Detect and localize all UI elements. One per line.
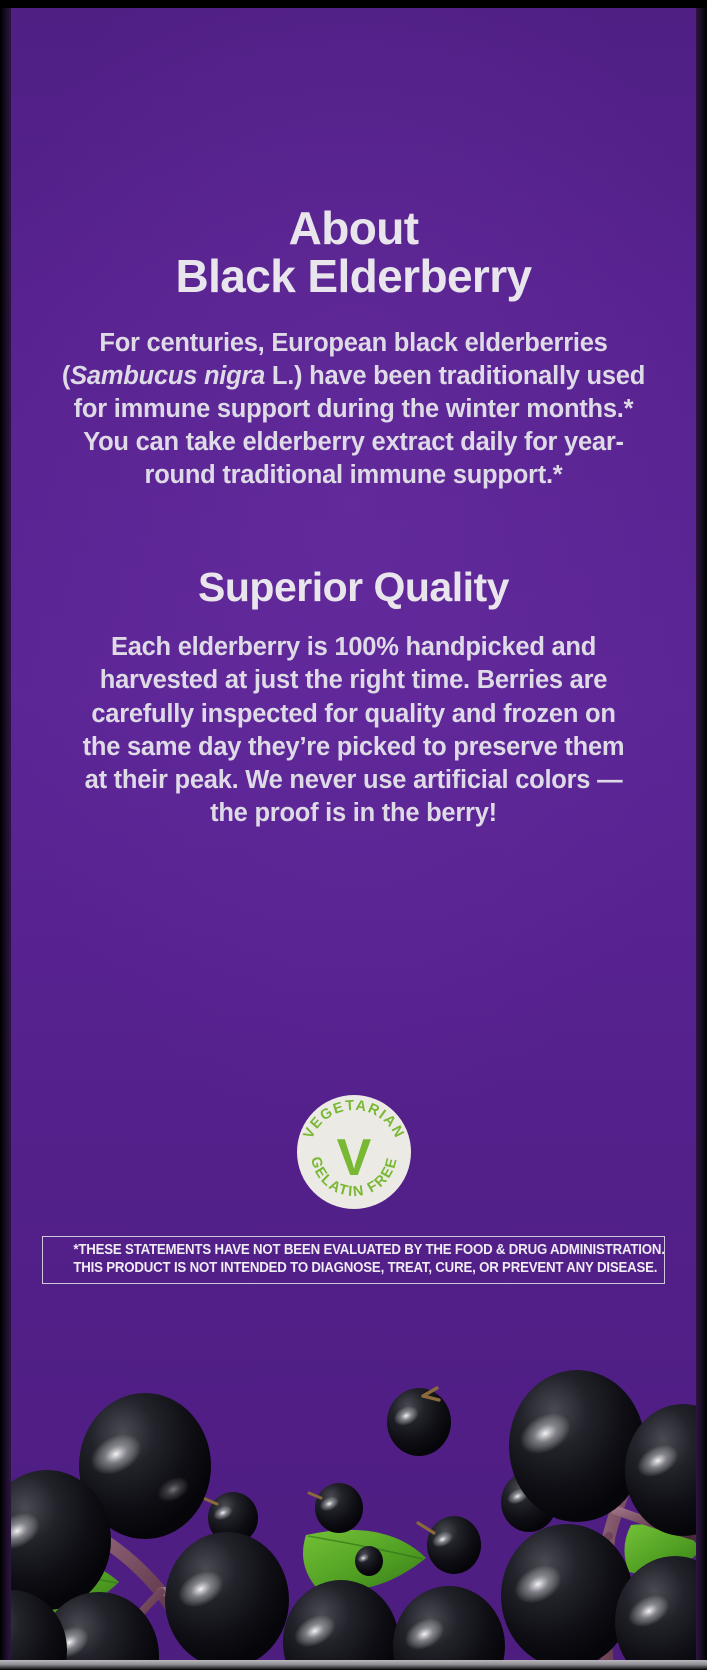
disclaimer-line-2: THIS PRODUCT IS NOT INTENDED TO DIAGNOSE… — [73, 1260, 633, 1278]
package-bottom-edge — [0, 1660, 707, 1670]
about-body-latin-name: Sambucus nigra — [70, 362, 265, 390]
fda-disclaimer-box: *THESE STATEMENTS HAVE NOT BEEN EVALUATE… — [42, 1236, 665, 1284]
package-top-edge — [0, 0, 707, 8]
package-right-edge — [696, 0, 707, 1670]
about-body-text: For centuries, European black elderberri… — [51, 327, 656, 493]
seal-center-letter: V — [336, 1129, 371, 1187]
panel-background: About Black Elderberry For centuries, Eu… — [11, 8, 696, 1660]
panel-content: About Black Elderberry For centuries, Eu… — [11, 204, 696, 830]
about-heading: About Black Elderberry — [51, 204, 656, 301]
product-package-side-panel: About Black Elderberry For centuries, Eu… — [0, 0, 707, 1670]
vegetarian-gelatin-free-seal: VEGETARIAN GELATIN FREE V — [295, 1093, 413, 1211]
disclaimer-line-1: *THESE STATEMENTS HAVE NOT BEEN EVALUATE… — [73, 1242, 633, 1260]
about-heading-line1: About — [289, 202, 419, 254]
quality-body-text: Each elderberry is 100% handpicked and h… — [51, 631, 656, 830]
package-left-edge — [0, 0, 11, 1670]
elderberry-artwork — [11, 1350, 696, 1660]
about-heading-line2: Black Elderberry — [51, 252, 656, 300]
quality-heading: Superior Quality — [51, 566, 656, 609]
